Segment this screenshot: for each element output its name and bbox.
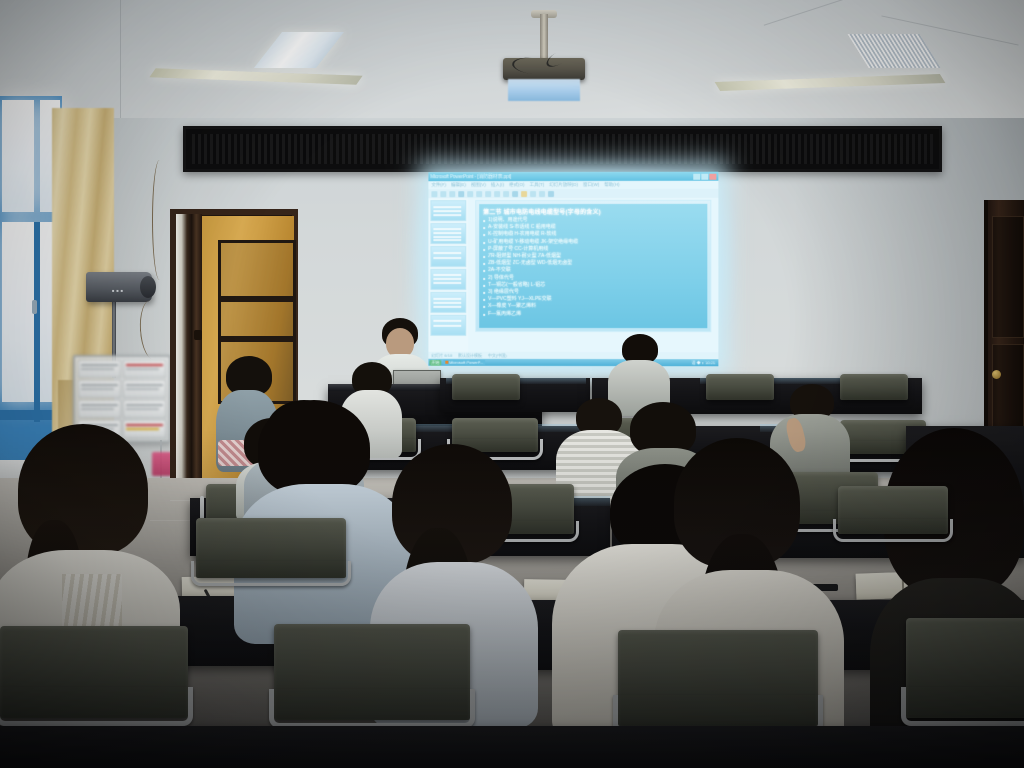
classroom-photo-scene: ■ ■ ■ bbox=[0, 0, 1024, 768]
slide-title: 第二节 城市电防电线电缆型号(字母的含义) bbox=[483, 207, 703, 216]
powerpoint-window[interactable]: Microsoft PowerPoint - [消防器材表.ppt] 文件(F)… bbox=[428, 172, 718, 367]
desk-foreground-edge bbox=[0, 726, 1024, 768]
pamphlet bbox=[78, 360, 121, 378]
hyperlink-icon[interactable] bbox=[539, 191, 545, 197]
system-tray[interactable]: 语 ◆ ◐ 10:21 bbox=[691, 360, 717, 366]
ceiling-seam bbox=[120, 0, 121, 126]
window-latch bbox=[32, 300, 37, 314]
chair-backrest bbox=[840, 374, 908, 400]
chair-front-row[interactable] bbox=[0, 626, 188, 718]
menu-item-tools[interactable]: 工具(T) bbox=[530, 182, 545, 188]
valance-inner-panel bbox=[192, 134, 933, 164]
spellcheck-icon[interactable] bbox=[476, 191, 482, 197]
chair-back-row[interactable] bbox=[840, 374, 908, 400]
slide-bullet: ZB-低烟型 ZC-无卤型 WD-低烟无卤型 bbox=[483, 260, 703, 267]
status-design-template: 默认设计模板 bbox=[458, 352, 482, 358]
start-button[interactable]: 开始 bbox=[429, 359, 441, 365]
windows-taskbar[interactable]: 开始 Microsoft PowerP... 语 ◆ ◐ 10:21 bbox=[428, 359, 718, 367]
projection-screen-valance bbox=[183, 126, 942, 172]
student-hair bbox=[258, 400, 370, 496]
taskbar-item-powerpoint[interactable]: Microsoft PowerP... bbox=[443, 360, 485, 365]
chair-chrome-frame bbox=[833, 519, 953, 542]
menu-item-view[interactable]: 视图(V) bbox=[471, 182, 486, 188]
zoom-icon[interactable] bbox=[548, 191, 554, 197]
slide-thumbnail-panel[interactable] bbox=[428, 198, 468, 352]
chair-front-row[interactable] bbox=[274, 624, 470, 720]
powerpoint-icon bbox=[445, 361, 448, 364]
menu-item-slideshow[interactable]: 幻灯片放映(D) bbox=[549, 182, 578, 188]
chair-backrest bbox=[452, 374, 520, 400]
menu-item-window[interactable]: 窗口(W) bbox=[583, 182, 599, 188]
pamphlet bbox=[123, 380, 166, 398]
save-icon[interactable] bbox=[449, 191, 455, 197]
menu-item-format[interactable]: 格式(O) bbox=[509, 182, 524, 188]
slide-content: 第二节 城市电防电线电缆型号(字母的含义) 1)说明、用途代号 A-安装线 S-… bbox=[479, 204, 707, 328]
window-mullion bbox=[34, 222, 40, 422]
paste-icon[interactable] bbox=[503, 191, 509, 197]
door-handle-left[interactable] bbox=[194, 330, 202, 340]
projector-mount-pole bbox=[540, 14, 548, 62]
insert-table-icon[interactable] bbox=[530, 191, 536, 197]
cut-icon[interactable] bbox=[485, 191, 491, 197]
wall-conduit-wire bbox=[152, 160, 167, 280]
chair-front-row[interactable] bbox=[906, 618, 1024, 718]
slide-thumb-1[interactable] bbox=[430, 200, 466, 221]
rack-row bbox=[78, 360, 166, 378]
copy-icon[interactable] bbox=[494, 191, 500, 197]
chair-chrome-frame bbox=[191, 561, 351, 586]
preview-icon[interactable] bbox=[467, 191, 473, 197]
projector-lens-beam bbox=[508, 79, 580, 101]
chair-chrome-frame bbox=[901, 687, 1024, 726]
chair-mid-row[interactable] bbox=[838, 486, 948, 534]
slide-thumb-6[interactable] bbox=[430, 315, 466, 336]
menu-item-help[interactable]: 帮助(H) bbox=[604, 182, 619, 188]
slide-bullet: 2A-不交联 bbox=[483, 267, 703, 274]
slide-bullet: U-矿用电缆 Y-移动电缆 JK-架空绝缘电缆 bbox=[483, 239, 703, 246]
rack-row bbox=[78, 400, 166, 418]
window-pane-upper bbox=[2, 100, 34, 212]
door-right-panel bbox=[992, 216, 1024, 338]
slide-bullet: K-控制电缆 H-农用电缆 R-软线 bbox=[483, 231, 703, 238]
speaker-brand-label: ■ ■ ■ bbox=[112, 288, 123, 293]
slide-bullet: 2) 导体代号 bbox=[483, 275, 703, 282]
taskbar-item-label: Microsoft PowerP... bbox=[449, 360, 483, 365]
pamphlet bbox=[123, 360, 166, 378]
undo-icon[interactable] bbox=[512, 191, 518, 197]
print-icon[interactable] bbox=[458, 191, 464, 197]
current-slide[interactable]: 第二节 城市电防电线电缆型号(字母的含义) 1)说明、用途代号 A-安装线 S-… bbox=[475, 200, 711, 332]
slide-bullet: P-屏蔽了号 CC-计算机用线 bbox=[483, 246, 703, 253]
pamphlet bbox=[78, 380, 121, 398]
chair-chrome-frame bbox=[269, 689, 475, 728]
chair-chrome-frame bbox=[0, 687, 193, 726]
door-handle-right[interactable] bbox=[992, 370, 1001, 379]
new-icon[interactable] bbox=[431, 191, 437, 197]
door-window-pane bbox=[218, 240, 296, 302]
insert-chart-icon[interactable] bbox=[521, 191, 527, 197]
pamphlet bbox=[78, 400, 121, 418]
open-icon[interactable] bbox=[440, 191, 446, 197]
slide-thumb-3[interactable] bbox=[430, 246, 466, 267]
maximize-icon[interactable] bbox=[701, 173, 708, 179]
slide-thumb-5[interactable] bbox=[430, 292, 466, 313]
slide-thumb-2[interactable] bbox=[430, 223, 466, 244]
chair-back-row[interactable] bbox=[452, 374, 520, 400]
status-slide-number: 幻灯片 6/18 bbox=[431, 352, 452, 358]
window-controls[interactable] bbox=[693, 173, 716, 179]
powerpoint-toolbar[interactable] bbox=[428, 189, 718, 198]
pamphlet bbox=[123, 400, 166, 418]
rack-row bbox=[78, 380, 166, 398]
slide-thumb-4[interactable] bbox=[430, 269, 466, 290]
powerpoint-title-bar: Microsoft PowerPoint - [消防器材表.ppt] bbox=[428, 172, 718, 182]
chair-front-row[interactable] bbox=[618, 630, 818, 726]
chair-back-row[interactable] bbox=[706, 374, 774, 400]
menu-item-insert[interactable]: 插入(I) bbox=[491, 182, 504, 188]
menu-item-edit[interactable]: 编辑(E) bbox=[451, 182, 466, 188]
powerpoint-title: Microsoft PowerPoint - [消防器材表.ppt] bbox=[430, 173, 511, 180]
chair-backrest bbox=[706, 374, 774, 400]
minimize-icon[interactable] bbox=[693, 173, 700, 179]
slide-editing-area: 第二节 城市电防电线电缆型号(字母的含义) 1)说明、用途代号 A-安装线 S-… bbox=[468, 198, 718, 352]
close-icon[interactable] bbox=[709, 173, 716, 179]
slide-bullet: F—氟丙烯乙烯 bbox=[483, 311, 703, 318]
status-language: 中文(中国) bbox=[488, 352, 507, 358]
window-pane-lower bbox=[2, 222, 34, 402]
chair-mid-row[interactable] bbox=[196, 518, 346, 578]
powerpoint-workspace: 第二节 城市电防电线电缆型号(字母的含义) 1)说明、用途代号 A-安装线 S-… bbox=[428, 198, 718, 352]
speaker-cone bbox=[140, 276, 156, 298]
menu-item-file[interactable]: 文件(F) bbox=[431, 182, 446, 188]
